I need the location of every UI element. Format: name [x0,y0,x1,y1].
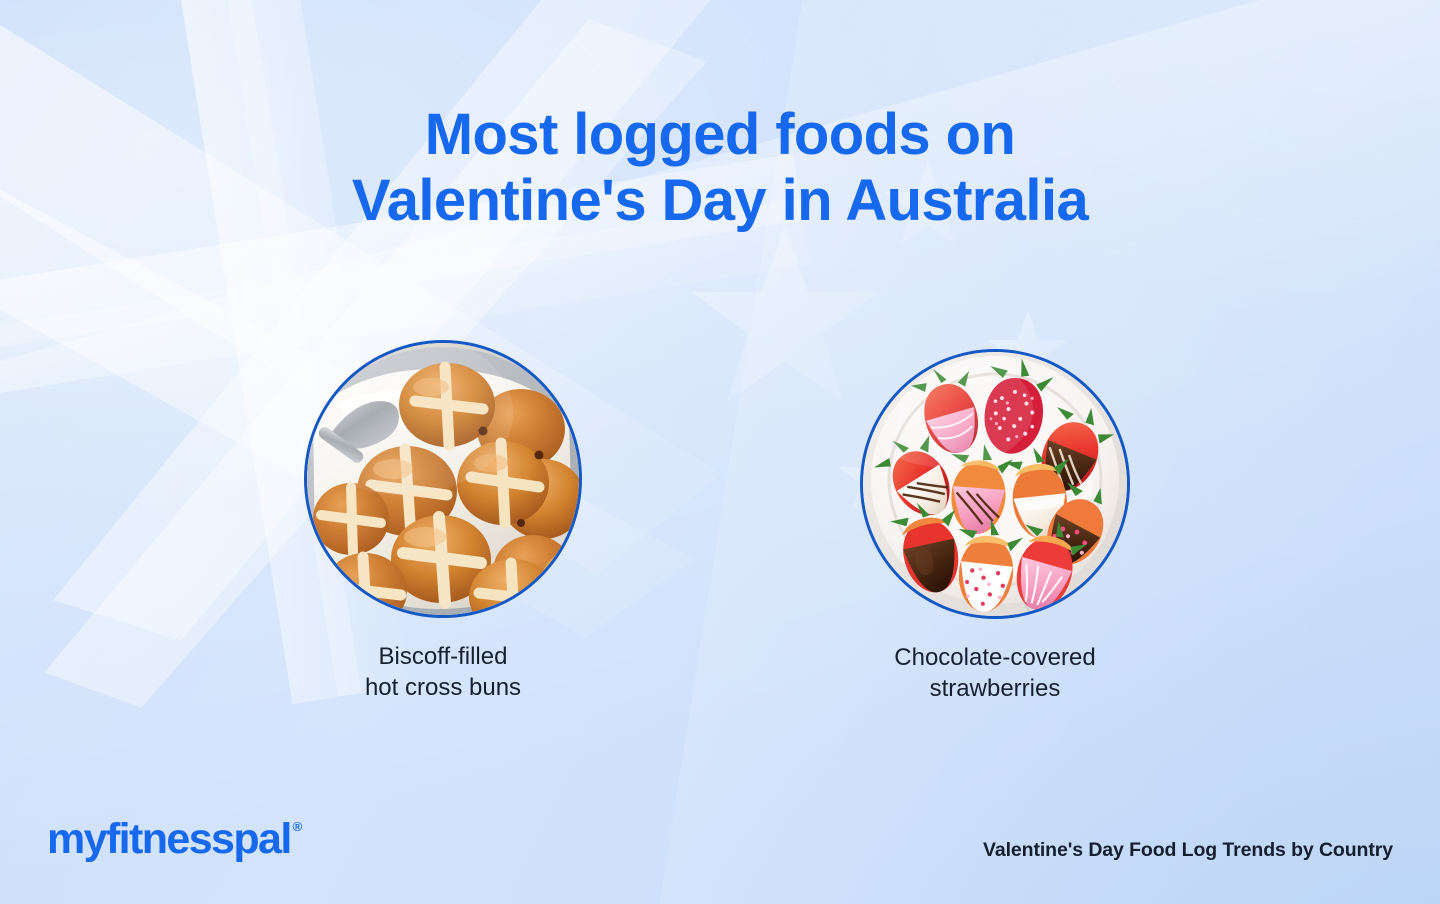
food-item-biscoff-hot-cross-buns: Biscoff-filled hot cross buns [246,343,640,704]
food-item-chocolate-covered-strawberries: Chocolate-covered strawberries [798,352,1192,705]
chocolate-strawberries-photo [863,352,1127,616]
myfitnesspal-logo[interactable]: myfitnesspal ® [47,818,302,861]
infographic-canvas: Most logged foods on Valentine's Day in … [0,0,1440,904]
food-item-caption: Biscoff-filled hot cross buns [246,642,640,704]
page-title: Most logged foods on Valentine's Day in … [0,102,1440,234]
food-item-caption: Chocolate-covered strawberries [798,643,1192,705]
hot-cross-buns-photo [307,343,579,615]
registered-trademark-icon: ® [293,820,303,833]
footer-series-note: Valentine's Day Food Log Trends by Count… [983,839,1393,862]
hot-cross-buns-photo-circle [307,343,579,615]
chocolate-strawberries-photo-circle [863,352,1127,616]
logo-wordmark: myfitnesspal [47,818,291,861]
